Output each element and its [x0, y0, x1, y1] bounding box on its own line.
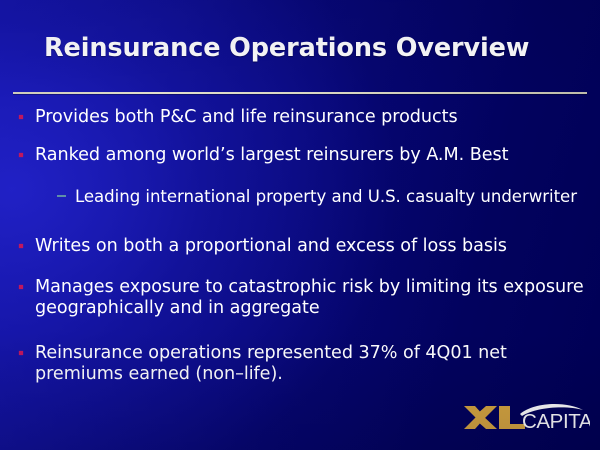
title-divider-rule: [13, 92, 587, 94]
bullet-text: Provides both P&C and life reinsurance p…: [35, 107, 600, 129]
square-bullet-icon: [19, 115, 23, 119]
xl-monogram-icon: [464, 406, 525, 429]
square-bullet-icon: [19, 244, 23, 248]
bullet-text: Reinsurance operations represented 37% o…: [35, 343, 600, 386]
square-bullet-icon: [19, 351, 23, 355]
presentation-slide: Reinsurance Operations Overview Provides…: [0, 0, 600, 450]
square-bullet-icon: [19, 285, 23, 289]
slide-body: Provides both P&C and life reinsurance p…: [0, 104, 600, 386]
square-bullet-icon: [19, 153, 23, 157]
bullet-item: Manages exposure to catastrophic risk by…: [0, 277, 600, 320]
sub-bullet-item: Leading international property and U.S. …: [0, 184, 600, 210]
bullet-text: Writes on both a proportional and excess…: [35, 236, 600, 258]
bullet-item: Writes on both a proportional and excess…: [0, 236, 600, 258]
bullet-item: Reinsurance operations represented 37% o…: [0, 343, 600, 386]
sub-bullet-text: Leading international property and U.S. …: [75, 184, 600, 210]
capital-wordmark: CAPITAL: [522, 410, 590, 433]
bullet-text: Manages exposure to catastrophic risk by…: [35, 277, 600, 320]
bullet-item: Provides both P&C and life reinsurance p…: [0, 107, 600, 129]
slide-title: Reinsurance Operations Overview: [44, 33, 529, 63]
xl-capital-logo: CAPITAL: [462, 398, 590, 436]
dash-bullet-icon: [57, 195, 66, 197]
bullet-text: Ranked among world’s largest reinsurers …: [35, 145, 600, 167]
bullet-item: Ranked among world’s largest reinsurers …: [0, 145, 600, 167]
